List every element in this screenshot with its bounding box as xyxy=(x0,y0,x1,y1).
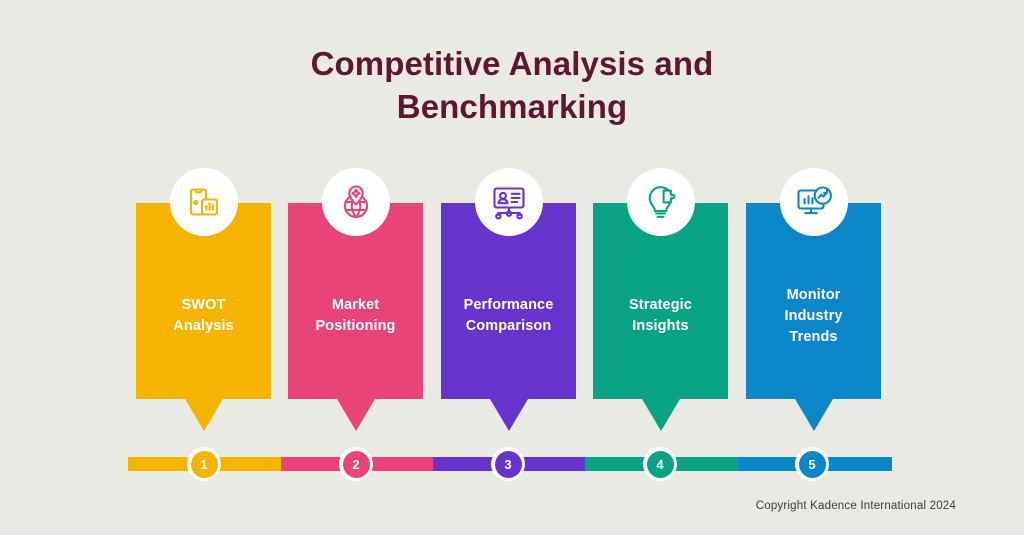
step-tab-2 xyxy=(337,399,375,431)
step-label-4: Strategic Insights xyxy=(629,295,692,337)
step-column-3[interactable]: Performance Comparison xyxy=(441,203,576,431)
step-label-5: Monitor Industry Trends xyxy=(785,285,843,348)
timeline-node-3[interactable]: 3 xyxy=(491,447,525,481)
step-label-5-line-1: Monitor xyxy=(787,287,841,303)
step-column-5[interactable]: Monitor Industry Trends xyxy=(746,203,881,431)
step-tab-3 xyxy=(490,399,528,431)
step-body-2: Market Positioning xyxy=(288,203,423,399)
timeline-node-1-number: 1 xyxy=(191,451,218,478)
timeline-node-2-number: 2 xyxy=(343,451,370,478)
timeline-node-1[interactable]: 1 xyxy=(187,447,221,481)
step-label-5-line-3: Trends xyxy=(789,329,837,345)
step-label-3-line-2: Comparison xyxy=(466,318,552,334)
step-column-1[interactable]: SWOT Analysis xyxy=(136,203,271,431)
page-title-line-1: Competitive Analysis and xyxy=(0,42,1024,85)
monitor-trend-analytics-icon xyxy=(780,168,848,236)
infographic-canvas: Competitive Analysis and Benchmarking SW… xyxy=(0,0,1024,535)
step-body-1: SWOT Analysis xyxy=(136,203,271,399)
step-label-4-line-1: Strategic xyxy=(629,297,692,313)
timeline-node-2[interactable]: 2 xyxy=(339,447,373,481)
lightbulb-puzzle-icon xyxy=(627,168,695,236)
step-tab-1 xyxy=(185,399,223,431)
step-label-4-line-2: Insights xyxy=(632,318,688,334)
timeline-node-3-number: 3 xyxy=(495,451,522,478)
step-label-2-line-1: Market xyxy=(332,297,379,313)
step-tab-4 xyxy=(642,399,680,431)
page-title: Competitive Analysis and Benchmarking xyxy=(0,42,1024,128)
step-columns: SWOT Analysis Market xyxy=(136,203,888,441)
step-body-4: Strategic Insights xyxy=(593,203,728,399)
step-label-1-line-1: SWOT xyxy=(182,297,226,313)
timeline-node-4[interactable]: 4 xyxy=(643,447,677,481)
step-label-2-line-2: Positioning xyxy=(315,318,395,334)
step-tab-5 xyxy=(795,399,833,431)
mobile-bar-chart-icon xyxy=(170,168,238,236)
step-label-1-line-2: Analysis xyxy=(173,318,233,334)
copyright-text: Copyright Kadence International 2024 xyxy=(756,500,956,512)
step-label-1: SWOT Analysis xyxy=(173,295,233,337)
id-card-network-icon xyxy=(475,168,543,236)
timeline-node-5-number: 5 xyxy=(799,451,826,478)
step-label-2: Market Positioning xyxy=(315,295,395,337)
step-label-3-line-1: Performance xyxy=(464,297,554,313)
step-label-3: Performance Comparison xyxy=(464,295,554,337)
step-label-5-line-2: Industry xyxy=(785,308,843,324)
step-body-3: Performance Comparison xyxy=(441,203,576,399)
timeline-node-5[interactable]: 5 xyxy=(795,447,829,481)
globe-location-pin-icon xyxy=(322,168,390,236)
step-column-2[interactable]: Market Positioning xyxy=(288,203,423,431)
page-title-line-2: Benchmarking xyxy=(0,85,1024,128)
step-body-5: Monitor Industry Trends xyxy=(746,203,881,399)
progress-timeline: 1 2 3 4 5 xyxy=(128,457,892,471)
timeline-node-4-number: 4 xyxy=(647,451,674,478)
step-column-4[interactable]: Strategic Insights xyxy=(593,203,728,431)
